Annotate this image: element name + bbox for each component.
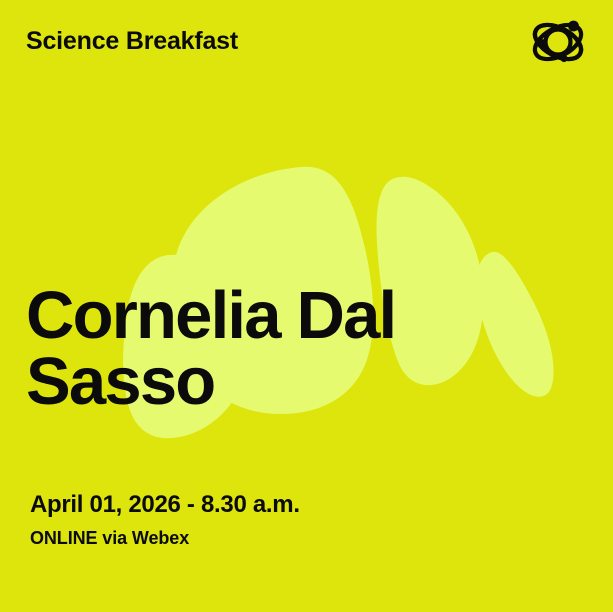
event-location: ONLINE via Webex [30,527,300,550]
event-details: April 01, 2026 - 8.30 a.m. ONLINE via We… [30,490,300,550]
speaker-name-line-1: Cornelia Dal [26,283,395,349]
croissant-right-tip [477,252,554,397]
atom-icon [529,13,587,71]
speaker-name-line-2: Sasso [26,349,395,415]
series-title: Science Breakfast [26,29,238,54]
poster-canvas: Science Breakfast Cornelia Dal Sasso [0,0,613,612]
speaker-name: Cornelia Dal Sasso [26,283,395,414]
event-date-time: April 01, 2026 - 8.30 a.m. [30,490,300,520]
poster-header: Science Breakfast [0,0,613,82]
